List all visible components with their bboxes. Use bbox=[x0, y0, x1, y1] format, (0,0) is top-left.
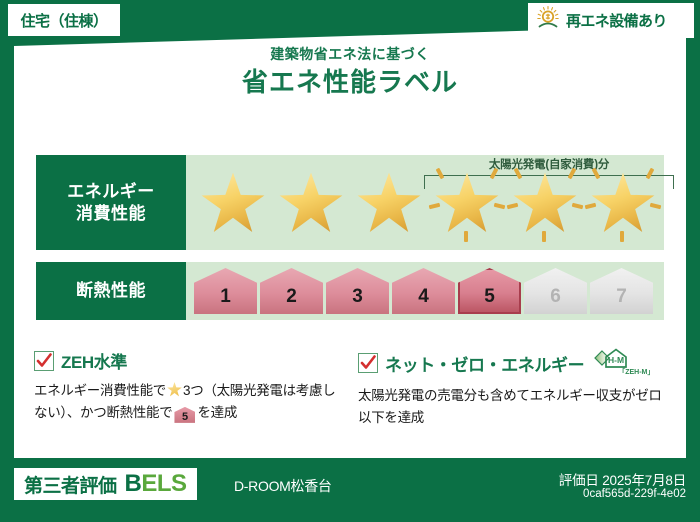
energy-performance-row-body: 太陽光発電(自家消費)分 bbox=[186, 155, 664, 250]
sparkle-mark bbox=[490, 167, 499, 179]
insulation-level-3: 3 bbox=[326, 268, 389, 314]
level-number: 3 bbox=[352, 287, 363, 314]
sparkle-mark bbox=[436, 167, 445, 179]
insulation-level-2: 2 bbox=[260, 268, 323, 314]
star-icon bbox=[357, 173, 421, 235]
insulation-performance-row-label: 断熱性能 bbox=[36, 262, 186, 320]
check-icon bbox=[34, 351, 54, 371]
sparkle-mark bbox=[514, 167, 523, 179]
star-icon bbox=[279, 173, 343, 235]
sparkle-mark bbox=[572, 202, 584, 209]
evaluation-date-value: 2025年7月8日 bbox=[602, 473, 686, 488]
energy-label-line1: エネルギー bbox=[67, 181, 155, 203]
level-number: 4 bbox=[418, 287, 429, 314]
sparkle-mark bbox=[646, 167, 655, 179]
energy-performance-label: 住宅（住棟） 再エネ設備あり bbox=[0, 0, 700, 522]
level-number: 6 bbox=[550, 287, 561, 314]
insulation-level-4: 4 bbox=[392, 268, 455, 314]
insulation-level-5-achieved: 5 bbox=[458, 268, 521, 314]
criteria-nze-title: ネット・ゼロ・エネルギー bbox=[385, 351, 584, 376]
level-number: 7 bbox=[616, 287, 627, 314]
criteria-nze-description: 太陽光発電の売電分も含めてエネルギー収支がゼロ以下を達成 bbox=[358, 385, 670, 429]
sparkle-mark bbox=[542, 231, 546, 242]
star-icon bbox=[167, 382, 182, 397]
energy-performance-row-label: エネルギー 消費性能 bbox=[36, 155, 186, 250]
bels-certification-box: 第三者評価 BELS bbox=[14, 468, 197, 500]
level-number: 1 bbox=[220, 287, 231, 314]
star-2 bbox=[272, 164, 350, 242]
sparkle-mark bbox=[429, 202, 441, 209]
sparkle-mark bbox=[585, 202, 597, 209]
document-type-label: 住宅（住棟） bbox=[20, 10, 107, 31]
footer-band: 第三者評価 BELS D-ROOM松香台 評価日 2025年7月8日 0caf5… bbox=[0, 460, 700, 522]
insulation-level-1: 1 bbox=[194, 268, 257, 314]
svg-text:H-M: H-M bbox=[608, 355, 624, 365]
criteria-zeh-header: ZEH水準 bbox=[34, 348, 344, 373]
star-1 bbox=[194, 164, 272, 242]
third-party-eval-label: 第三者評価 bbox=[24, 471, 117, 498]
criteria-net-zero-energy: ネット・ゼロ・エネルギー H-M 「ZEH-M」 太 bbox=[358, 348, 670, 429]
insulation-level-scale: 1 2 3 4 5 bbox=[194, 262, 664, 320]
criteria-zeh-title: ZEH水準 bbox=[61, 348, 127, 373]
bels-logo: BELS bbox=[125, 470, 187, 498]
energy-label-line2: 消費性能 bbox=[76, 203, 146, 225]
project-name: D-ROOM松香台 bbox=[234, 476, 332, 496]
star-icon bbox=[591, 173, 655, 235]
document-type-chip: 住宅（住棟） bbox=[8, 4, 120, 36]
label-subtitle: 建築物省エネ法に基づく bbox=[0, 44, 700, 64]
bels-logo-b: B bbox=[125, 470, 142, 497]
zeh-m-caption: 「ZEH-M」 bbox=[618, 367, 654, 377]
energy-performance-row: エネルギー 消費性能 太陽光発電(自家消費)分 bbox=[36, 155, 664, 250]
zeh-desc-part1: エネルギー消費性能で bbox=[34, 383, 166, 398]
star-6-solar bbox=[584, 164, 662, 242]
label-title: 省エネ性能ラベル bbox=[0, 62, 700, 99]
sparkle-mark bbox=[650, 202, 662, 209]
criteria-zeh-description: エネルギー消費性能で3つ（太陽光発電は考慮しない）、かつ断熱性能で5を達成 bbox=[34, 380, 344, 424]
sparkle-mark bbox=[494, 202, 506, 209]
sparkle-mark bbox=[507, 202, 519, 209]
check-icon bbox=[358, 353, 378, 373]
zeh-m-logo: H-M 「ZEH-M」 bbox=[592, 348, 644, 378]
star-icon bbox=[513, 173, 577, 235]
insulation-level-6: 6 bbox=[524, 268, 587, 314]
criteria-nze-header: ネット・ゼロ・エネルギー H-M 「ZEH-M」 bbox=[358, 348, 670, 378]
evaluation-id: 0caf565d-229f-4e02 bbox=[583, 488, 686, 500]
star-4-solar bbox=[428, 164, 506, 242]
sparkle-mark bbox=[592, 167, 601, 179]
criteria-zeh-standard: ZEH水準 エネルギー消費性能で3つ（太陽光発電は考慮しない）、かつ断熱性能で5… bbox=[34, 348, 344, 424]
sparkle-mark bbox=[620, 231, 624, 242]
level-number: 5 bbox=[484, 287, 495, 314]
star-3 bbox=[350, 164, 428, 242]
star-icon bbox=[435, 173, 499, 235]
sparkle-mark bbox=[464, 231, 468, 242]
evaluation-date-label: 評価日 bbox=[559, 473, 599, 488]
insulation-level-7: 7 bbox=[590, 268, 653, 314]
star-5-solar bbox=[506, 164, 584, 242]
evaluation-date: 評価日 2025年7月8日 bbox=[559, 469, 686, 489]
insulation-performance-row: 断熱性能 1 2 3 4 bbox=[36, 262, 664, 320]
star-icon bbox=[201, 173, 265, 235]
zeh-desc-part3: を達成 bbox=[197, 405, 237, 420]
bels-logo-els: ELS bbox=[141, 470, 186, 497]
sparkle-mark bbox=[568, 167, 577, 179]
insulation-label-text: 断熱性能 bbox=[76, 280, 146, 302]
level-number: 2 bbox=[286, 287, 297, 314]
energy-star-rating bbox=[194, 155, 664, 250]
house-badge-icon: 5 bbox=[174, 407, 195, 423]
insulation-performance-row-body: 1 2 3 4 5 bbox=[186, 262, 664, 320]
